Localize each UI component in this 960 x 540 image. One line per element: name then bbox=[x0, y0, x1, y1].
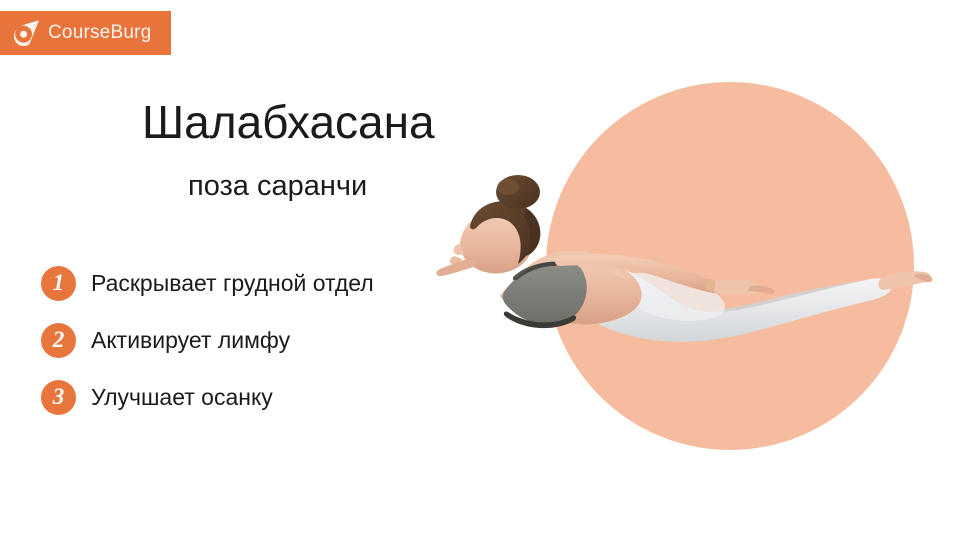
benefit-number-badge: 2 bbox=[41, 323, 76, 358]
brand-logo-bar[interactable]: CourseBurg bbox=[0, 11, 171, 55]
page-title: Шалабхасана bbox=[142, 95, 435, 149]
benefit-label: Улучшает осанку bbox=[91, 384, 273, 411]
benefit-label: Раскрывает грудной отдел bbox=[91, 270, 374, 297]
benefit-number-badge: 1 bbox=[41, 266, 76, 301]
woman-in-salabhasana-locust-pose bbox=[430, 60, 960, 480]
brand-name: CourseBurg bbox=[48, 22, 151, 44]
slide-canvas: CourseBurg Шалабхасана поза саранчи 1 Ра… bbox=[0, 0, 960, 540]
page-subtitle: поза саранчи bbox=[188, 170, 367, 203]
illustration-area bbox=[430, 60, 960, 480]
benefit-number-badge: 3 bbox=[41, 380, 76, 415]
benefit-label: Активирует лимфу bbox=[91, 327, 290, 354]
courseburg-teardrop-icon bbox=[11, 18, 41, 48]
